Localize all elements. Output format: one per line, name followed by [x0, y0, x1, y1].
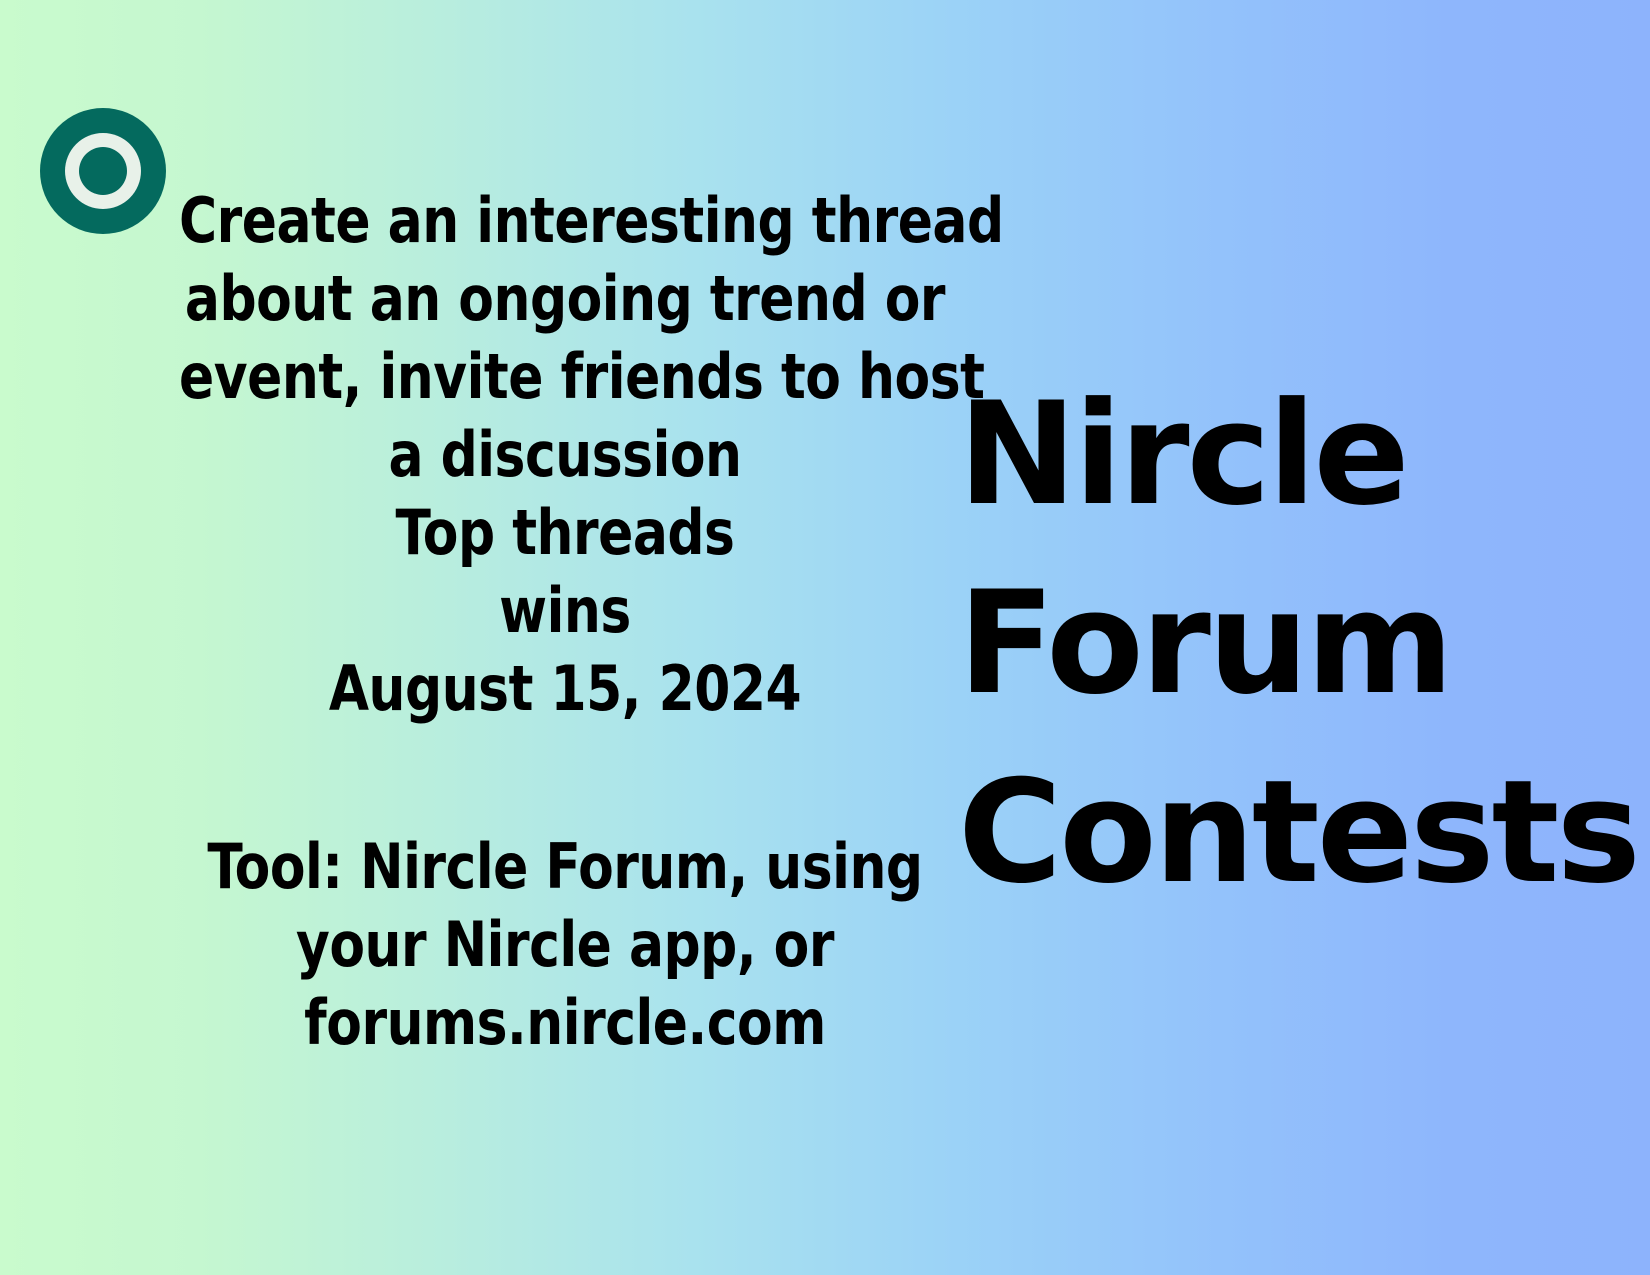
forum-website-link[interactable]: forums.nircle.com — [179, 984, 951, 1062]
headline-line-2: Forum — [958, 549, 1598, 738]
description-line-6: wins — [179, 572, 951, 650]
body-copy-column: Create an interesting thread about an on… — [150, 182, 980, 1062]
page-title: Nircle Forum Contests — [958, 360, 1598, 927]
headline-line-3: Contests — [958, 738, 1598, 927]
tool-line-2: your Nircle app, or — [179, 906, 951, 984]
description-line-1: Create an interesting thread — [179, 182, 951, 260]
contest-description: Create an interesting thread about an on… — [150, 182, 980, 728]
logo-core-icon — [79, 147, 127, 195]
nircle-ring-logo-icon — [40, 108, 166, 234]
promo-poster: Create an interesting thread about an on… — [0, 0, 1650, 1275]
description-line-3: event, invite friends to host — [179, 338, 951, 416]
description-line-5: Top threads — [179, 494, 951, 572]
logo-ring-icon — [65, 133, 141, 209]
tool-line-1: Tool: Nircle Forum, using — [179, 828, 951, 906]
description-line-4: a discussion — [179, 416, 951, 494]
description-line-2: about an ongoing trend or — [179, 260, 951, 338]
headline-line-1: Nircle — [958, 360, 1598, 549]
contest-date: August 15, 2024 — [179, 650, 951, 728]
tool-instructions: Tool: Nircle Forum, using your Nircle ap… — [150, 828, 980, 1062]
